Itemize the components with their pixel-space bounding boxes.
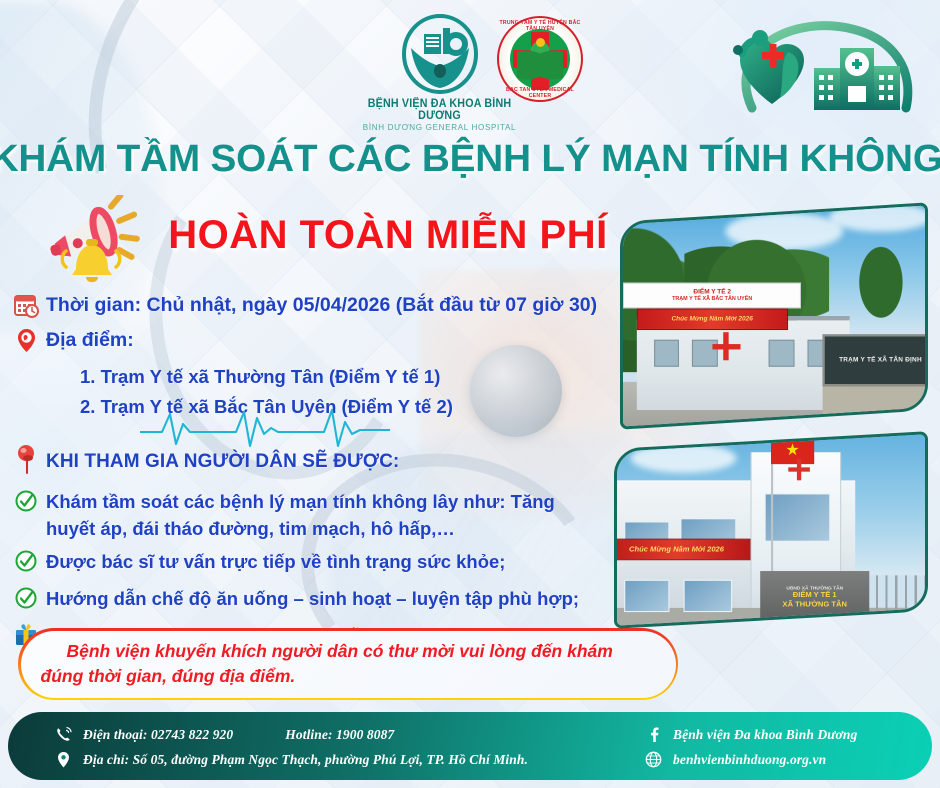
footer-contact-group: Điện thoại: 02743 822 920 Hotline: 1900 … — [54, 723, 528, 773]
list-item: Khám tầm soát các bệnh lý mạn tính không… — [14, 488, 654, 542]
facebook-icon[interactable] — [644, 725, 663, 744]
photo-1-banner-white: ĐIỂM Y TẾ 2 TRẠM Y TẾ XÃ BẮC TÂN UYÊN — [623, 283, 802, 309]
benefits-heading-row: KHI THAM GIA NGƯỜI DÂN SẼ ĐƯỢC: — [14, 444, 654, 479]
photo-2-window — [624, 579, 669, 612]
poster-main-title: KHÁM TẦM SOÁT CÁC BỆNH LÝ MẠN TÍNH KHÔNG… — [0, 138, 940, 181]
event-place-text: Địa điểm: — [46, 327, 134, 354]
photo-2-content: ★ Chúc Mừng Năm Mới 2026 UBND XÃ THƯỜNG … — [614, 431, 928, 629]
footer-social-group: Bệnh viện Đa khoa Bình Dương benhvienbin… — [644, 723, 857, 773]
check-circle-icon — [14, 585, 38, 616]
hospital-artwork-icon — [718, 12, 918, 118]
list-item: Hướng dẫn chế độ ăn uống – sinh hoạt – l… — [14, 585, 654, 616]
footer-website-row[interactable]: benhvienbinhduong.org.vn — [644, 748, 857, 771]
photo-2-gate-top: UBND XÃ THƯỜNG TÂN — [786, 585, 843, 591]
photo-1-banner-red: Chúc Mừng Năm Mới 2026 — [637, 309, 788, 330]
emblem-leaves — [517, 41, 563, 81]
footer-phone-text[interactable]: Điện thoại: 02743 822 920 — [83, 727, 233, 743]
map-pin-icon — [54, 750, 73, 769]
location-pin-icon — [14, 327, 39, 359]
emblem-seed — [536, 38, 545, 47]
list-item: 1. Trạm Y tế xã Thường Tân (Điểm Y tế 1) — [80, 362, 654, 392]
notice-line-2: đúng thời gian, đúng địa điểm. — [41, 664, 613, 689]
check-circle-icon — [14, 548, 38, 579]
event-time-row: Thời gian: Chủ nhật, ngày 05/04/2026 (Bắ… — [14, 292, 654, 324]
photo-1-station-sign: TRẠM Y TẾ XÃ TÂN ĐỊNH — [822, 335, 928, 387]
event-time-text: Thời gian: Chủ nhật, ngày 05/04/2026 (Bắ… — [46, 292, 597, 319]
photo-2-gate-line2: XÃ THƯỜNG TÂN — [783, 601, 847, 610]
footer-phone-row: Điện thoại: 02743 822 920 Hotline: 1900 … — [54, 723, 528, 746]
footer-address-text: Địa chỉ: Số 05, đường Phạm Ngọc Thạch, p… — [83, 752, 528, 768]
photo-1-building — [637, 316, 850, 410]
photo-2-banner-red: Chúc Mừng Năm Mới 2026 — [614, 538, 750, 561]
benefits-block: KHI THAM GIA NGƯỜI DÂN SẼ ĐƯỢC: Khám tầm… — [14, 444, 654, 659]
photo-2-window — [764, 493, 830, 542]
check-circle-icon — [14, 488, 38, 519]
logo-bac-tan-uyen-medical-center: TRUNG TÂM Y TẾ HUYỆN BẮC TÂN UYÊN BAC TA… — [497, 16, 583, 102]
footer-website-text[interactable]: benhvienbinhduong.org.vn — [673, 752, 826, 768]
photo-2-gate-line1: ĐIỂM Y TẾ 1 — [793, 592, 837, 601]
photo-1-content: ĐIỂM Y TẾ 2 TRẠM Y TẾ XÃ BẮC TÂN UYÊN Ch… — [620, 202, 928, 429]
photo-1-palm-right — [843, 231, 919, 344]
photo-clinic-bac-tan-uyen: ĐIỂM Y TẾ 2 TRẠM Y TẾ XÃ BẮC TÂN UYÊN Ch… — [620, 202, 928, 429]
list-item: Được bác sĩ tư vấn trực tiếp về tình trạ… — [14, 548, 654, 579]
footer-address-row: Địa chỉ: Số 05, đường Phạm Ngọc Thạch, p… — [54, 748, 528, 771]
hospital-logo-name-en: BÌNH DƯƠNG GENERAL HOSPITAL — [356, 122, 522, 132]
emblem-text-top: TRUNG TÂM Y TẾ HUYỆN BẮC TÂN UYÊN — [497, 20, 583, 32]
event-place-row: Địa điểm: — [14, 327, 654, 359]
globe-icon[interactable] — [644, 750, 663, 769]
notice-box: Bệnh viện khuyến khích người dân có thư … — [18, 628, 678, 700]
benefit-text: Hướng dẫn chế độ ăn uống – sinh hoạt – l… — [46, 585, 579, 612]
flag-star-icon: ★ — [785, 442, 800, 458]
poster-header: BỆNH VIỆN ĐA KHOA BÌNH DƯƠNG BÌNH DƯƠNG … — [0, 0, 940, 128]
photo-2-red-cross — [788, 458, 810, 480]
poster-footer: Điện thoại: 02743 822 920 Hotline: 1900 … — [8, 712, 932, 780]
megaphone-bell-icon — [44, 195, 156, 287]
photo-1-red-cross — [712, 332, 740, 360]
poster-subtitle-free: HOÀN TOÀN MIỄN PHÍ — [148, 213, 628, 258]
photo-2-window — [684, 579, 733, 612]
emblem-text-bottom: BAC TAN UYEN MEDICAL CENTER — [497, 87, 583, 99]
event-info-block: Thời gian: Chủ nhật, ngày 05/04/2026 (Bắ… — [14, 292, 654, 422]
notice-text: Bệnh viện khuyến khích người dân có thư … — [41, 639, 613, 689]
photo-1-banner-line2: TRẠM Y TẾ XÃ BẮC TÂN UYÊN — [624, 297, 800, 303]
footer-facebook-text[interactable]: Bệnh viện Đa khoa Bình Dương — [673, 727, 857, 743]
benefits-heading-text: KHI THAM GIA NGƯỜI DÂN SẼ ĐƯỢC: — [46, 451, 399, 473]
footer-hotline-text[interactable]: Hotline: 1900 8087 — [285, 727, 394, 743]
benefit-text: Được bác sĩ tư vấn trực tiếp về tình trạ… — [46, 548, 505, 575]
benefit-line-1: Khám tầm soát các bệnh lý mạn tính không… — [46, 491, 555, 512]
poster-root: BỆNH VIỆN ĐA KHOA BÌNH DƯƠNG BÌNH DƯƠNG … — [0, 0, 940, 788]
benefit-line-2: huyết áp, đái tháo đường, tim mạch, hô h… — [46, 515, 555, 542]
calendar-icon — [14, 292, 39, 324]
benefit-text: Khám tầm soát các bệnh lý mạn tính không… — [46, 488, 555, 542]
notice-box-inner: Bệnh viện khuyến khích người dân có thư … — [21, 631, 676, 698]
photo-clinic-thuong-tan: ★ Chúc Mừng Năm Mới 2026 UBND XÃ THƯỜNG … — [614, 431, 928, 629]
footer-facebook-row[interactable]: Bệnh viện Đa khoa Bình Dương — [644, 723, 857, 746]
phone-icon — [54, 725, 73, 744]
notice-line-1: Bệnh viện khuyến khích người dân có thư … — [41, 639, 613, 664]
photo-2-cloud — [631, 444, 736, 473]
pushpin-icon — [14, 444, 40, 479]
photo-1-cloud — [829, 203, 928, 231]
hospital-logo-mark — [399, 14, 481, 96]
